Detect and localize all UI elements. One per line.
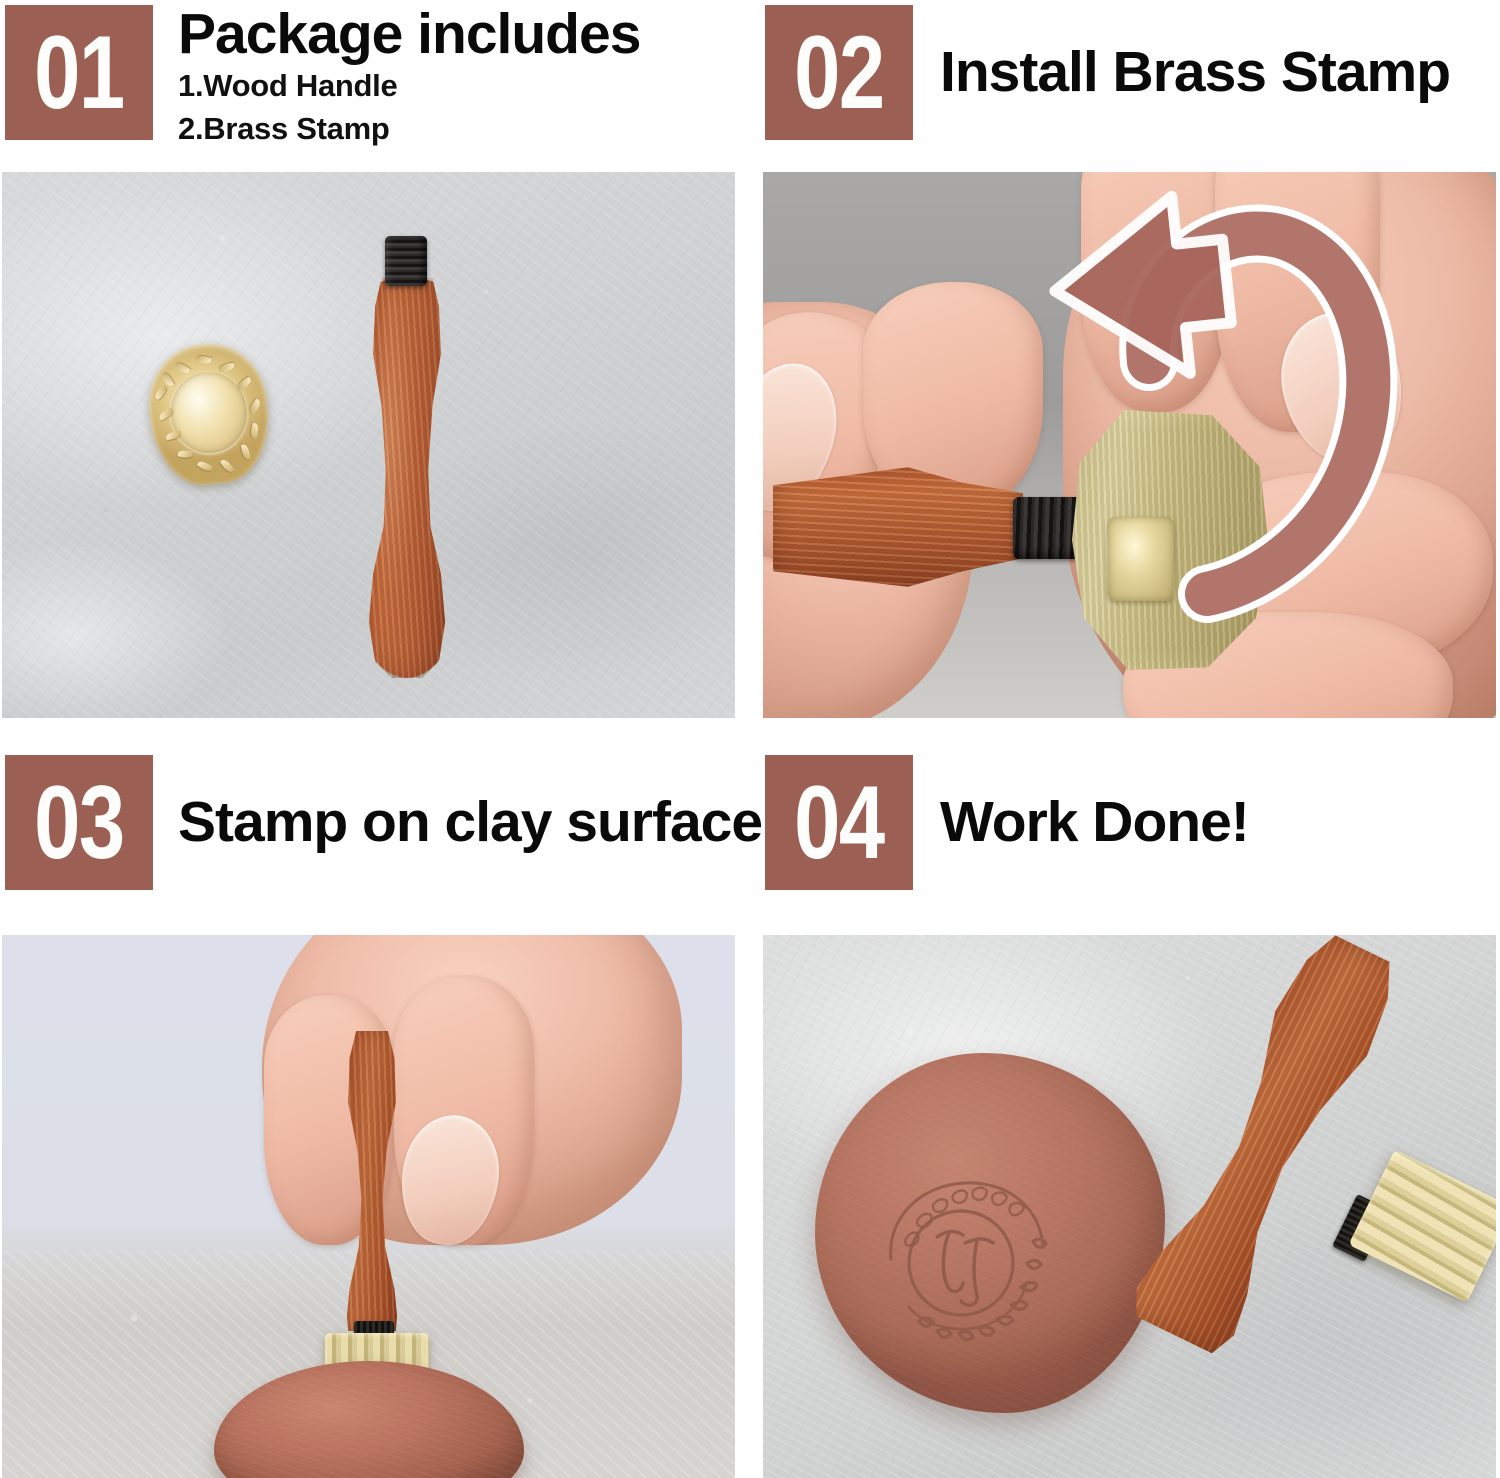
step-photo-04 <box>763 935 1496 1478</box>
step-panel-01: 01 Package includes 1.Wood Handle 2.Bras… <box>0 0 750 750</box>
step-number-01: 01 <box>34 21 123 125</box>
step-number-03: 03 <box>34 771 123 875</box>
step-header-04: 04 Work Done! <box>750 750 1500 920</box>
stamp-engraving-ring <box>167 368 251 457</box>
embossed-monogram-mark <box>861 1167 1061 1347</box>
step-photo-02 <box>763 172 1496 718</box>
step-number-02: 02 <box>794 21 883 125</box>
step-header-text-04: Work Done! <box>940 750 1496 895</box>
step-header-02: 02 Install Brass Stamp <box>750 0 1500 170</box>
step-header-text-01: Package includes 1.Wood Handle 2.Brass S… <box>178 0 746 170</box>
step-panel-04: 04 Work Done! <box>750 750 1500 1478</box>
step-title-03: Stamp on clay surface <box>178 792 762 852</box>
package-item-1: 1.Wood Handle <box>178 64 746 106</box>
step-title-01: Package includes <box>178 0 746 64</box>
step-header-01: 01 Package includes 1.Wood Handle 2.Bras… <box>0 0 750 170</box>
step-title-04: Work Done! <box>940 792 1249 852</box>
step-panel-03: 03 Stamp on clay surface <box>0 750 750 1478</box>
step-number-badge-01: 01 <box>5 5 153 140</box>
threaded-screw-tip <box>385 236 427 286</box>
step-header-text-03: Stamp on clay surface <box>178 750 746 895</box>
step-photo-01 <box>2 172 735 718</box>
step-number-badge-04: 04 <box>765 755 913 890</box>
package-item-2: 2.Brass Stamp <box>178 107 746 149</box>
step-number-04: 04 <box>794 771 883 875</box>
step-header-03: 03 Stamp on clay surface <box>0 750 750 920</box>
step-title-02: Install Brass Stamp <box>940 42 1450 102</box>
step-number-badge-03: 03 <box>5 755 153 890</box>
step-header-text-02: Install Brass Stamp <box>940 0 1496 145</box>
rotate-arrow-icon <box>1031 182 1451 632</box>
step-photo-03 <box>2 935 735 1478</box>
instruction-grid: 01 Package includes 1.Wood Handle 2.Bras… <box>0 0 1500 1478</box>
concrete-background <box>2 172 735 718</box>
step-number-badge-02: 02 <box>765 5 913 140</box>
step-panel-02: 02 Install Brass Stamp <box>750 0 1500 750</box>
